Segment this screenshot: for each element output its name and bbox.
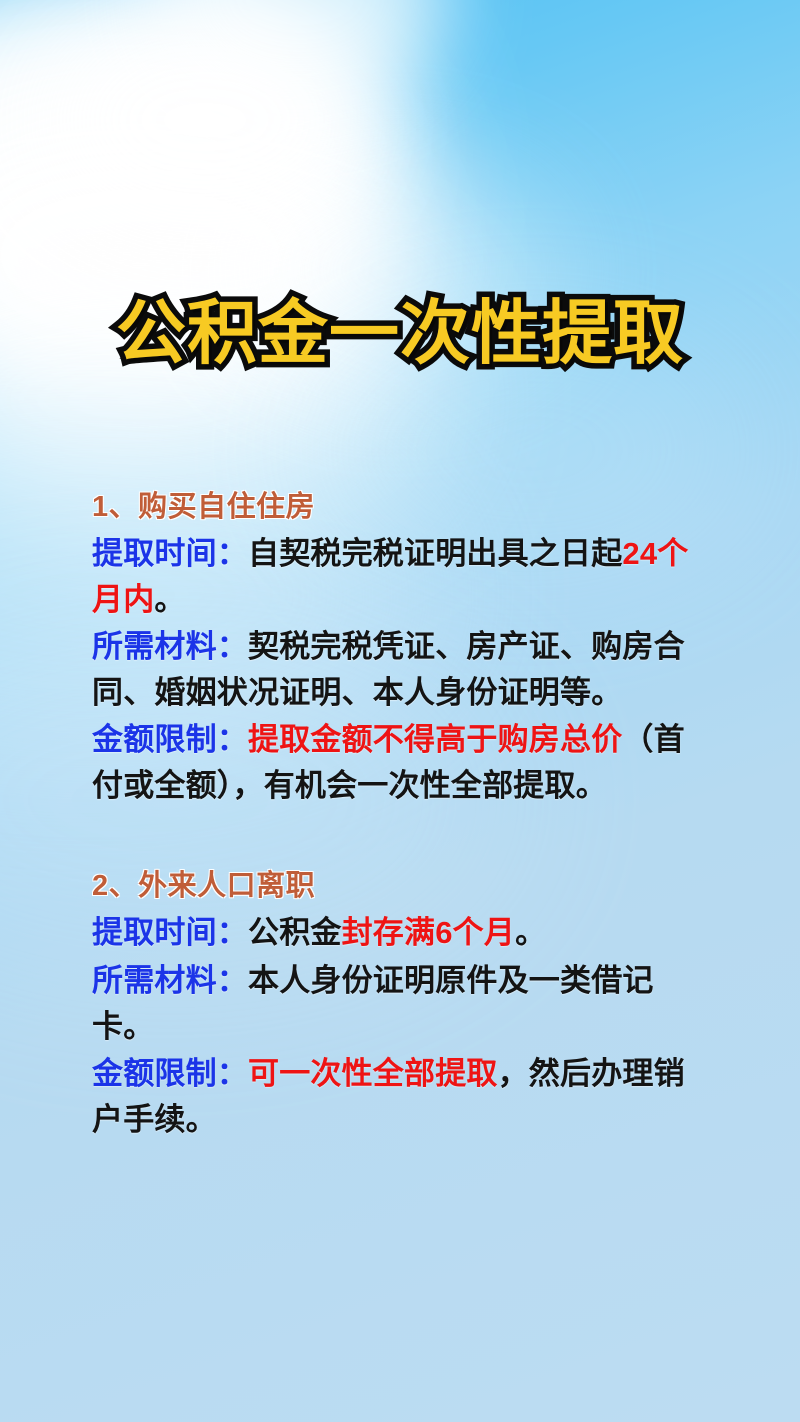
content-body: 1、购买自住住房提取时间：自契税完税证明出具之日起24个月内。所需材料：契税完税… bbox=[92, 487, 692, 1142]
row-text: 公积金 bbox=[248, 915, 342, 950]
row-label: 所需材料： bbox=[92, 963, 248, 998]
row-label: 金额限制： bbox=[92, 722, 248, 757]
row-label: 金额限制： bbox=[92, 1056, 248, 1091]
row-text: 。 bbox=[515, 915, 546, 950]
title-container: 公积金一次性提取 bbox=[0, 296, 800, 372]
detail-row: 所需材料：契税完税凭证、房产证、购房合同、婚姻状况证明、本人身份证明等。 bbox=[92, 624, 692, 715]
row-label: 提取时间： bbox=[92, 915, 248, 950]
section-block: 2、外来人口离职提取时间：公积金封存满6个月。所需材料：本人身份证明原件及一类借… bbox=[92, 866, 692, 1142]
row-text: 。 bbox=[154, 582, 185, 617]
detail-row: 提取时间：公积金封存满6个月。 bbox=[92, 910, 692, 956]
detail-row: 提取时间：自契税完税证明出具之日起24个月内。 bbox=[92, 531, 692, 622]
section-block: 1、购买自住住房提取时间：自契税完税证明出具之日起24个月内。所需材料：契税完税… bbox=[92, 487, 692, 808]
detail-row: 所需材料：本人身份证明原件及一类借记卡。 bbox=[92, 958, 692, 1049]
row-emphasis-text: 提取金额不得高于购房总价 bbox=[248, 722, 622, 757]
page-title: 公积金一次性提取 bbox=[116, 296, 684, 372]
cloud-shape bbox=[150, 0, 450, 110]
poster-canvas: 公积金一次性提取 1、购买自住住房提取时间：自契税完税证明出具之日起24个月内。… bbox=[0, 0, 800, 1422]
detail-row: 金额限制：可一次性全部提取，然后办理销户手续。 bbox=[92, 1051, 692, 1142]
cloud-shape bbox=[40, 10, 370, 230]
section-heading: 1、购买自住住房 bbox=[92, 487, 692, 527]
section-heading: 2、外来人口离职 bbox=[92, 866, 692, 906]
row-emphasis-text: 可一次性全部提取 bbox=[248, 1056, 498, 1091]
row-emphasis-text: 封存满6个月 bbox=[342, 915, 515, 950]
row-text: 自契税完税证明出具之日起 bbox=[248, 536, 622, 571]
row-label: 所需材料： bbox=[92, 629, 248, 664]
row-label: 提取时间： bbox=[92, 536, 248, 571]
detail-row: 金额限制：提取金额不得高于购房总价（首付或全额），有机会一次性全部提取。 bbox=[92, 717, 692, 808]
